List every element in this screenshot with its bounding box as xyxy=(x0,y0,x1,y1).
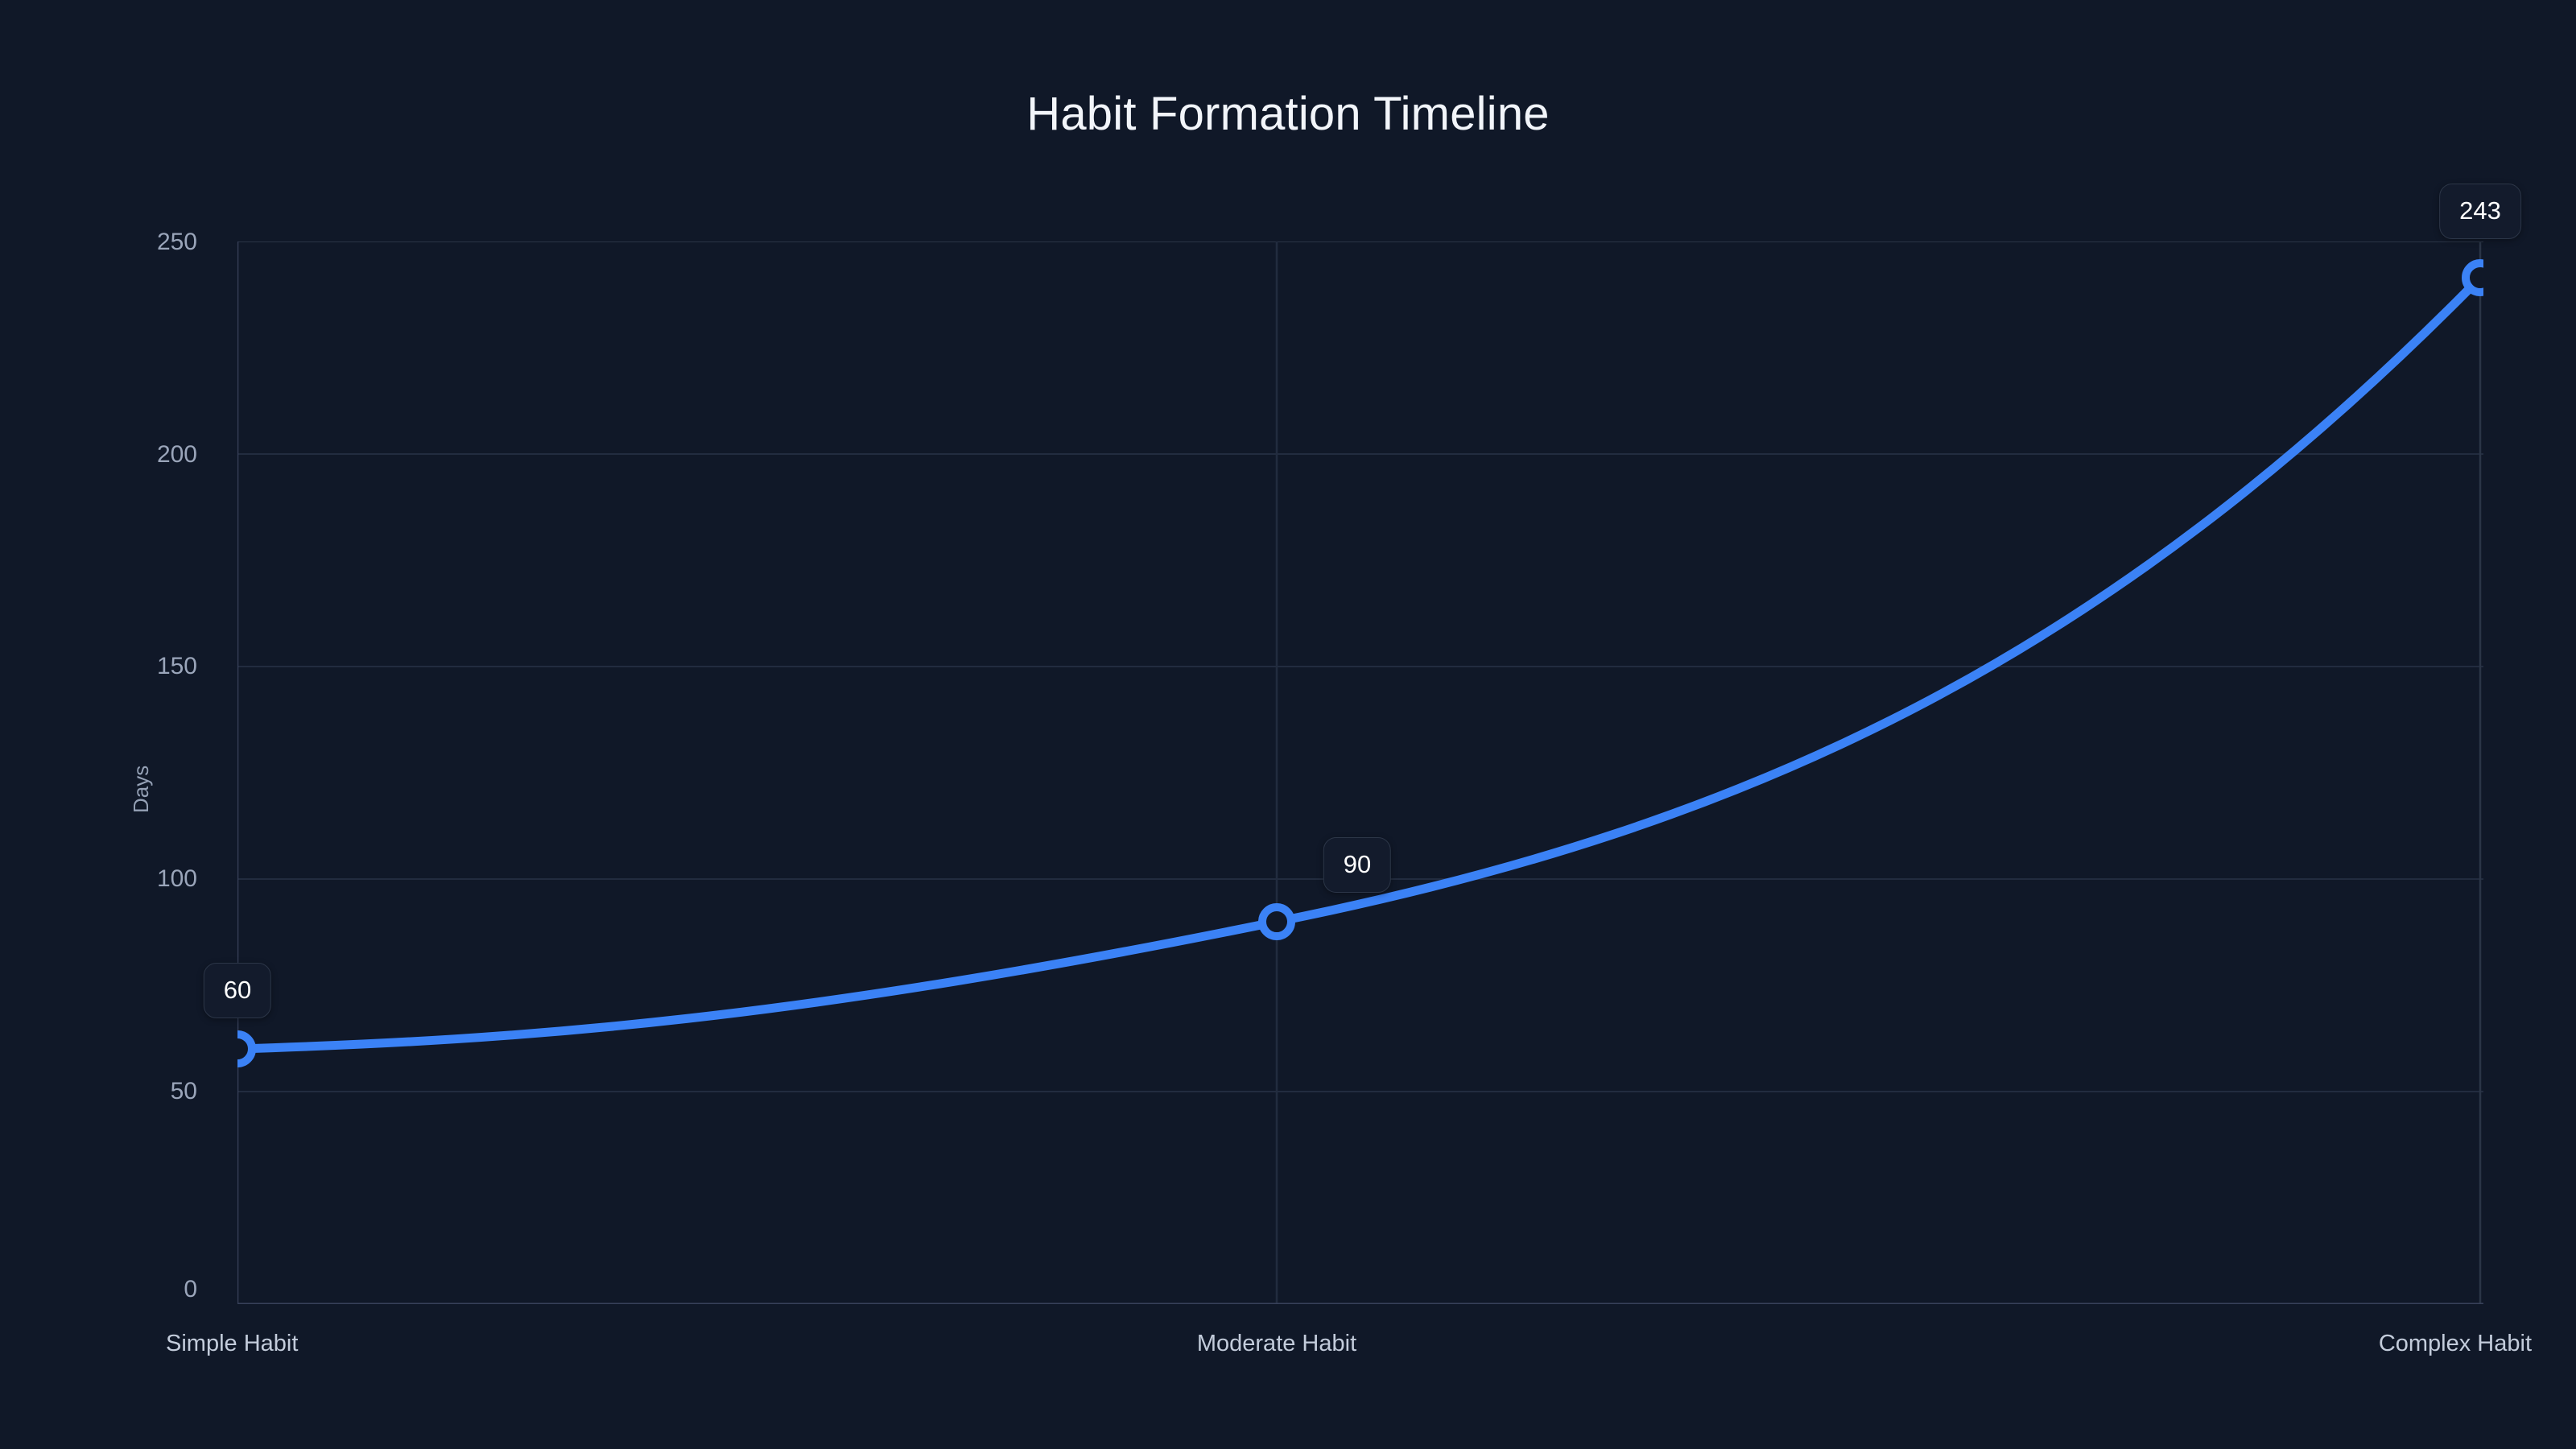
data-point-markers xyxy=(237,263,2483,1063)
x-tick-complex-habit: Complex Habit xyxy=(2379,1331,2532,1357)
data-point-simple-habit[interactable] xyxy=(237,1034,252,1063)
chart-title: Habit Formation Timeline xyxy=(0,87,2576,141)
y-tick-200: 200 xyxy=(20,441,221,469)
data-label-complex-habit: 243 xyxy=(2439,184,2521,239)
x-tick-moderate-habit: Moderate Habit xyxy=(1197,1331,1356,1357)
y-tick-100: 100 xyxy=(20,865,221,893)
data-label-simple-habit: 60 xyxy=(204,963,271,1018)
y-tick-50: 50 xyxy=(20,1078,221,1105)
y-axis-tick-labels: 250 200 150 100 50 0 xyxy=(0,0,221,1449)
chart-svg xyxy=(237,242,2483,1304)
y-tick-250: 250 xyxy=(20,229,221,256)
y-tick-150: 150 xyxy=(20,653,221,680)
data-line-days xyxy=(237,278,2480,1049)
data-label-moderate-habit: 90 xyxy=(1323,837,1391,893)
horizontal-gridlines xyxy=(237,242,2483,1092)
x-tick-simple-habit: Simple Habit xyxy=(166,1331,298,1357)
plot-area xyxy=(237,242,2483,1304)
data-point-complex-habit[interactable] xyxy=(2466,263,2483,292)
chart-page: Habit Formation Timeline Days 250 200 15… xyxy=(0,0,2576,1449)
y-tick-0: 0 xyxy=(20,1276,221,1303)
vertical-gridlines xyxy=(237,242,2480,1304)
data-point-moderate-habit[interactable] xyxy=(1262,907,1291,936)
